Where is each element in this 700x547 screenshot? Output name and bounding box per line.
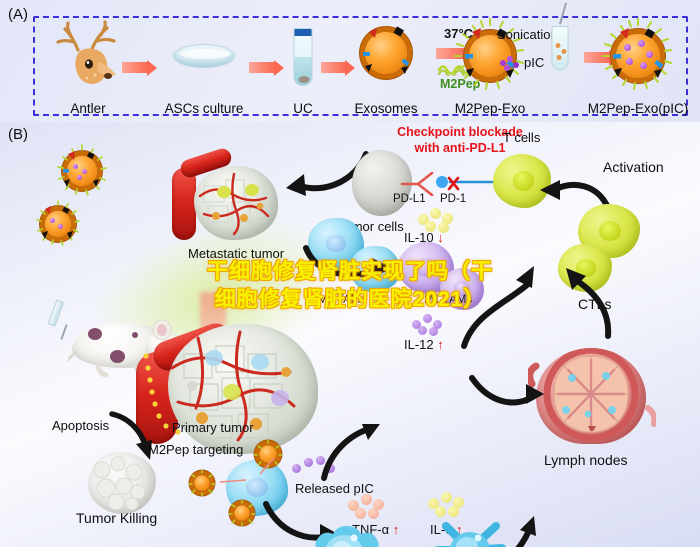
arrow-tumor-to-released-pic (318, 422, 382, 484)
cytokine-il10-arrow: ↓ (437, 230, 444, 245)
mature-dc-icon (430, 516, 510, 547)
stage-asc-caption: ASCs culture (165, 101, 244, 116)
metastatic-vessel (172, 168, 196, 240)
pd-1-label: PD-1 (440, 193, 466, 205)
panel-b-label: (B) (8, 126, 28, 143)
cytokine-tnfa-arrow: ↑ (393, 522, 400, 537)
panel-a: (A) (0, 0, 700, 122)
deer-antler-icon (52, 20, 124, 90)
apoptotic-tumor-body (88, 452, 156, 514)
pic-dot-cluster-a (500, 56, 520, 72)
tnfa-dots (348, 492, 392, 518)
free-exosome-2 (34, 200, 82, 248)
arrow-dc-to-lymph (468, 368, 548, 412)
arrow-antler-to-asc (122, 62, 148, 73)
il12-dots (412, 312, 452, 336)
arrow-immature-to-mature (374, 542, 432, 547)
apoptosis-label: Apoptosis (52, 418, 109, 433)
arrow-lymph-to-ctls (560, 262, 630, 342)
cytokine-il12: IL-12 ↑ (404, 337, 444, 352)
metastatic-tumor-label: Metastatic tumor (188, 246, 284, 261)
syringe-barrel (48, 299, 64, 326)
targeting-exosome-2 (189, 470, 215, 496)
tumor-killing-label: Tumor Killing (76, 510, 157, 526)
pd-l1-label: PD-L1 (393, 193, 426, 205)
panel-b: (B) (0, 122, 700, 547)
exosome-loaded-pic-icon (600, 18, 676, 94)
sonicator-probe-icon (559, 3, 567, 25)
il6-dots (428, 490, 472, 516)
cytokine-il12-name: IL-12 (404, 337, 434, 352)
son-dot-3 (557, 55, 562, 60)
activation-label: Activation (603, 159, 664, 175)
stage-asc-culture: ASCs culture (150, 18, 258, 114)
free-exosome-1 (55, 144, 109, 198)
targeting-exosome-1 (254, 440, 282, 468)
arrow-asc-to-uc (249, 62, 275, 73)
son-dot-2 (562, 49, 567, 54)
centrifuge-tube-icon (294, 28, 313, 86)
tube-pellet (299, 76, 310, 83)
son-dot-1 (556, 43, 561, 48)
stage-antler-caption: Antler (70, 101, 105, 116)
figure-canvas: (A) (0, 0, 700, 547)
stage-m2pepexo-caption: M2Pep-Exo (455, 101, 526, 116)
il10-dots (418, 206, 458, 232)
stage-antler: Antler (42, 18, 134, 114)
targeting-exosome-3 (229, 500, 255, 526)
cytokine-il12-arrow: ↑ (437, 337, 444, 352)
petri-dish-icon (173, 44, 235, 68)
primary-tumor-label: Primary tumor (172, 420, 254, 435)
sonication-apparatus (540, 12, 580, 82)
syringe-needle (60, 324, 67, 340)
arrow-m2-to-m1 (300, 240, 398, 284)
panel-a-label: (A) (8, 6, 28, 23)
arrow-il12-to-ctls (452, 262, 540, 352)
immature-dc-icon (310, 520, 384, 547)
lymph-nodes-label: Lymph nodes (544, 452, 628, 468)
stage-final-caption: M2Pep-Exo(pIC) (588, 101, 689, 116)
metastatic-tumor-mass (194, 166, 278, 240)
stage-uc-caption: UC (293, 101, 313, 116)
t-cells-label: T cells (503, 130, 540, 145)
stage-m2pep-exo-pic: M2Pep-Exo(pIC) (580, 14, 696, 114)
tube-cap (294, 28, 313, 36)
sonication-tube-icon (552, 26, 569, 70)
